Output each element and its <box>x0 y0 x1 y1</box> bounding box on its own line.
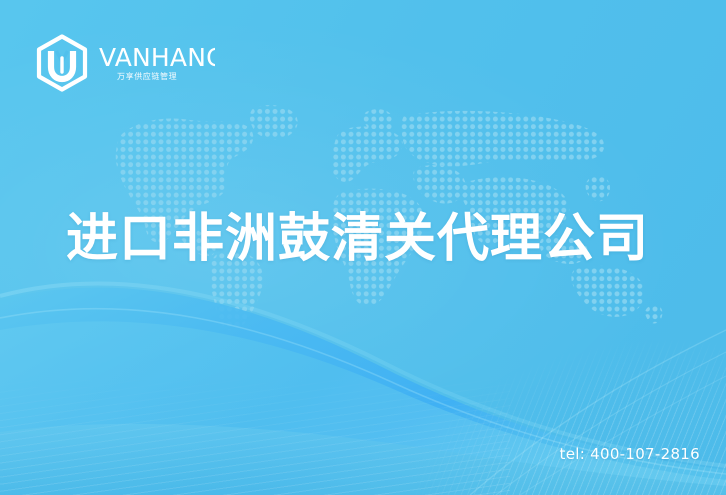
logo-wordmark: VANHANG 万享供应链管理 <box>99 42 215 84</box>
contact-telephone[interactable]: tel: 400-107-2816 <box>560 445 700 463</box>
vanhang-hexagon-mark-icon <box>34 34 90 92</box>
page-title: 进口非洲鼓清关代理公司 <box>66 210 649 268</box>
logo-wordmark-text: VANHANG <box>99 43 215 72</box>
striation-lines-bottom <box>0 375 510 495</box>
logo-subtitle-text: 万享供应链管理 <box>117 71 177 81</box>
promo-banner: VANHANG 万享供应链管理 进口非洲鼓清关代理公司 tel: 400-107… <box>0 0 726 495</box>
company-logo[interactable]: VANHANG 万享供应链管理 <box>34 34 215 92</box>
